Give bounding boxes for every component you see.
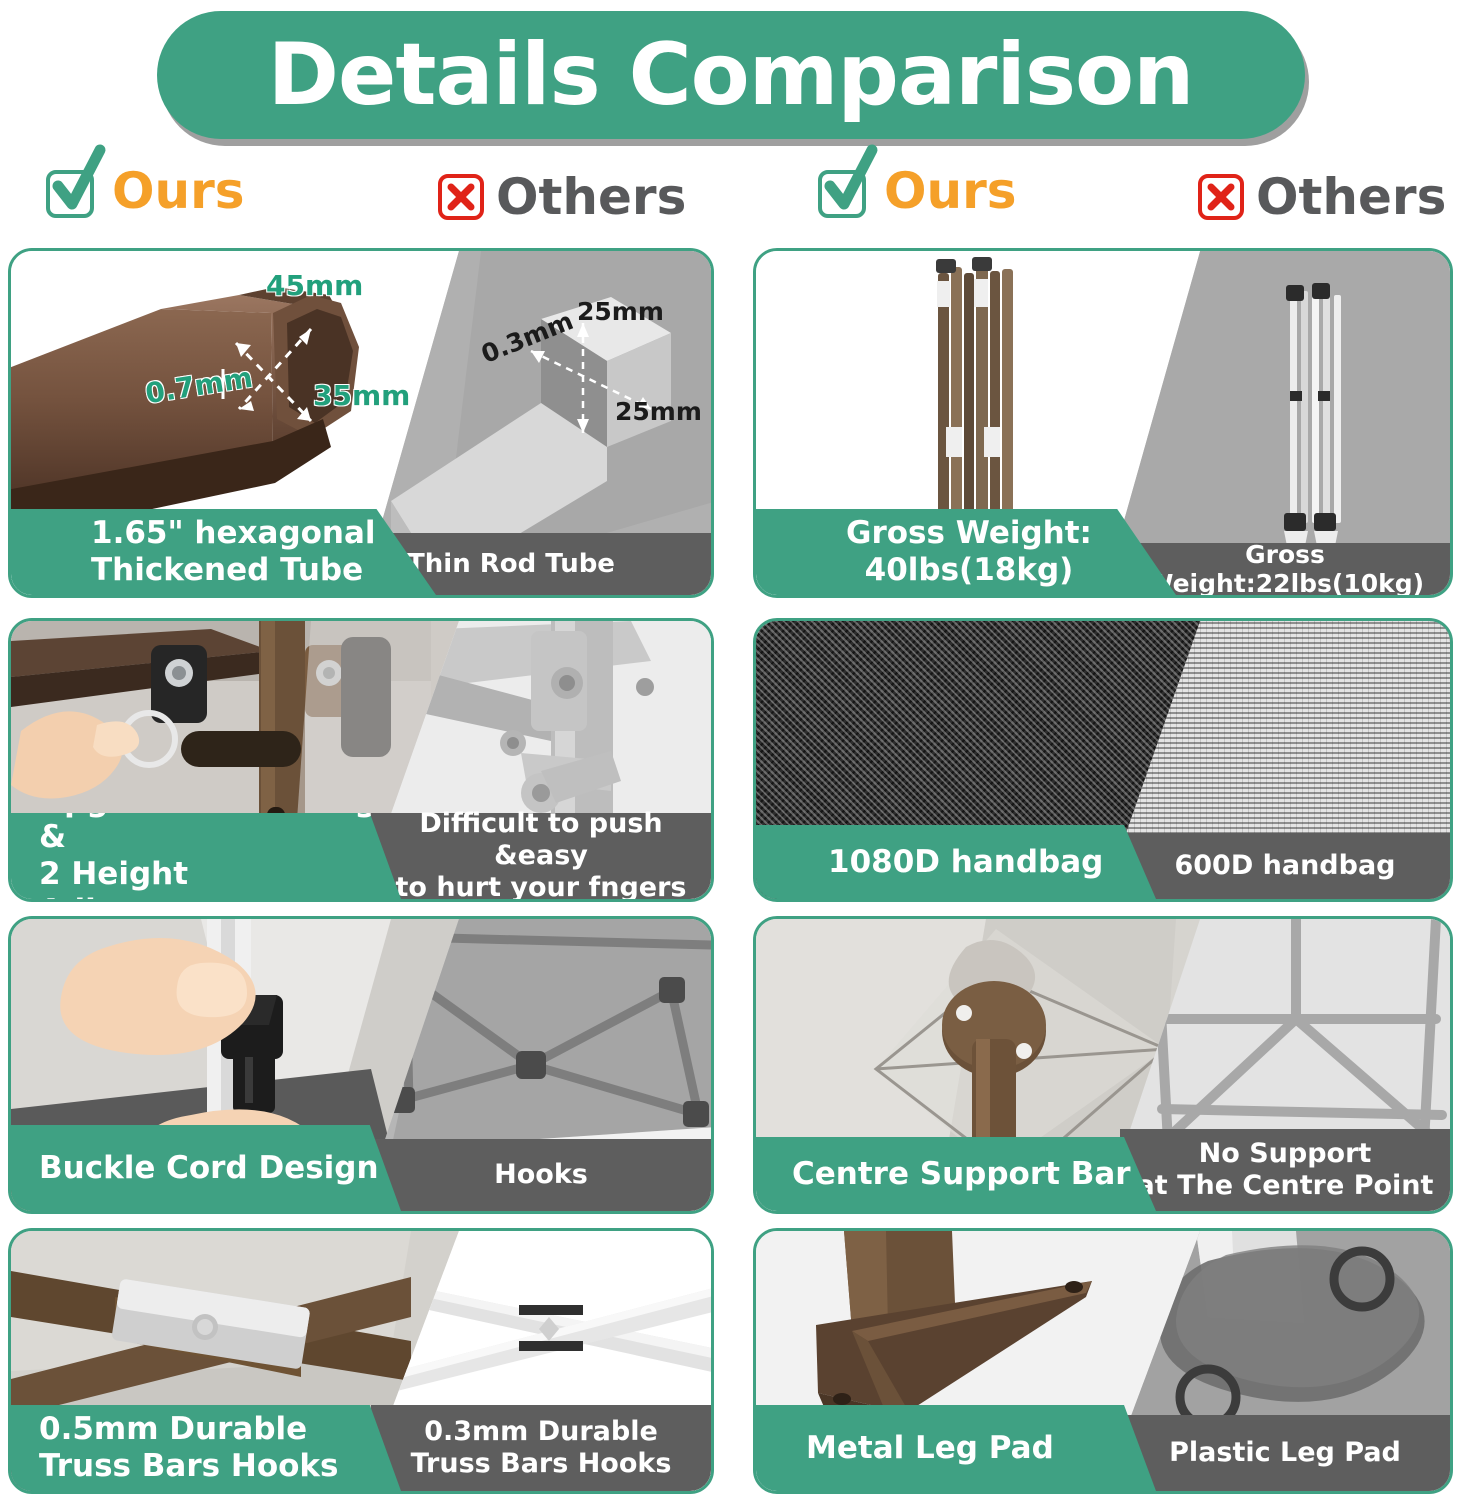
check-icon xyxy=(818,164,872,218)
cross-icon xyxy=(438,174,484,220)
header-banner-pill: Details Comparison xyxy=(157,11,1305,139)
comparison-card-tube: 45mm 35mm 0.7mm xyxy=(8,248,714,598)
legend-others-right: Others xyxy=(1198,162,1446,232)
ours-label-line2: Truss Bars Hooks xyxy=(39,1448,338,1485)
comparison-card-weight: Gross Weight:22lbs(10kg) Gross Weight: 4… xyxy=(753,248,1453,598)
ours-label-truss: 0.5mm Durable Truss Bars Hooks xyxy=(11,1405,401,1491)
ours-label-buckle: Buckle Cord Design xyxy=(11,1125,401,1211)
legend-ours-label: Ours xyxy=(884,166,1017,216)
others-label-line2: Truss Bars Hooks xyxy=(411,1448,672,1480)
check-tick-icon xyxy=(48,146,108,220)
ours-label-weight: Gross Weight: 40lbs(18kg) xyxy=(756,509,1176,595)
check-tick-icon xyxy=(820,146,880,220)
comparison-card-centre-bar: No Support at The Centre Point Centre Su… xyxy=(753,916,1453,1214)
ours-label-pull-ring: Upgraded Pull Ring & 2 Height Adjustment xyxy=(11,813,401,899)
ours-label-line2: 40lbs(18kg) xyxy=(846,552,1092,589)
comparison-card-truss: 0.3mm Durable Truss Bars Hooks 0.5mm Dur… xyxy=(8,1228,714,1494)
legend-ours-left: Ours xyxy=(46,156,245,226)
comparison-grid: 45mm 35mm 0.7mm xyxy=(0,240,1461,1500)
others-label-line2: at The Centre Point xyxy=(1137,1170,1434,1202)
ours-label-handbag: 1080D handbag xyxy=(756,825,1156,899)
comparison-card-pull-ring: Difficult to push &easy to hurt your fng… xyxy=(8,618,714,902)
ours-label-text: Centre Support Bar xyxy=(792,1156,1131,1192)
legend: Ours Others Ours Others xyxy=(0,156,1461,234)
others-label-buckle: Hooks xyxy=(371,1139,711,1211)
others-label-pull-ring: Difficult to push &easy to hurt your fng… xyxy=(371,813,711,899)
legend-ours-right: Ours xyxy=(818,156,1017,226)
comparison-card-leg-pad: Plastic Leg Pad Metal Leg Pad xyxy=(753,1228,1453,1494)
ours-label-line1: 1.65" hexagonal xyxy=(91,515,376,552)
header-banner: Details Comparison xyxy=(0,6,1461,144)
others-label-text: Plastic Leg Pad xyxy=(1169,1437,1401,1469)
legend-ours-label: Ours xyxy=(112,166,245,216)
ours-label-text: 1080D handbag xyxy=(828,844,1103,881)
cross-x-icon xyxy=(1198,174,1244,220)
ours-label-line2: Thickened Tube xyxy=(91,552,376,589)
dim-35mm: 35mm xyxy=(313,379,410,412)
page-title: Details Comparison xyxy=(268,32,1194,118)
ours-label-line1: 0.5mm Durable xyxy=(39,1411,338,1448)
others-label-text: Hooks xyxy=(494,1159,588,1191)
legend-others-label: Others xyxy=(1256,172,1446,222)
ours-label-text: Buckle Cord Design xyxy=(39,1150,379,1186)
others-label-truss: 0.3mm Durable Truss Bars Hooks xyxy=(371,1405,711,1491)
others-label-line1: No Support xyxy=(1137,1138,1434,1170)
others-label-text: Thin Rod Tube xyxy=(407,549,615,579)
others-label-line1: 0.3mm Durable xyxy=(411,1416,672,1448)
dim-25mm-top: 25mm xyxy=(577,297,664,326)
ours-label-tube: 1.65" hexagonal Thickened Tube xyxy=(11,509,436,595)
comparison-card-buckle: Hooks Buckle Cord Design xyxy=(8,916,714,1214)
others-label-text: 600D handbag xyxy=(1174,850,1395,882)
dim-25mm-side: 25mm xyxy=(615,397,702,426)
ours-label-text: Metal Leg Pad xyxy=(806,1430,1054,1467)
others-label-handbag: 600D handbag xyxy=(1120,833,1450,899)
check-icon xyxy=(46,164,100,218)
cross-icon xyxy=(1198,174,1244,220)
comparison-card-handbag: 600D handbag 1080D handbag xyxy=(753,618,1453,902)
legend-others-label: Others xyxy=(496,172,686,222)
others-label-line1: Difficult to push &easy xyxy=(371,808,711,872)
others-label-centre-bar: No Support at The Centre Point xyxy=(1120,1129,1450,1211)
ours-label-centre-bar: Centre Support Bar xyxy=(756,1137,1156,1211)
cross-x-icon xyxy=(438,174,484,220)
ours-label-line1: Gross Weight: xyxy=(846,515,1092,552)
others-label-line2: to hurt your fngers xyxy=(371,872,711,902)
legend-others-left: Others xyxy=(438,162,686,232)
ours-label-leg-pad: Metal Leg Pad xyxy=(756,1405,1156,1491)
dim-45mm: 45mm xyxy=(266,269,363,302)
ours-label-line2: 2 Height Adjustment xyxy=(39,856,401,902)
others-label-leg-pad: Plastic Leg Pad xyxy=(1120,1415,1450,1491)
